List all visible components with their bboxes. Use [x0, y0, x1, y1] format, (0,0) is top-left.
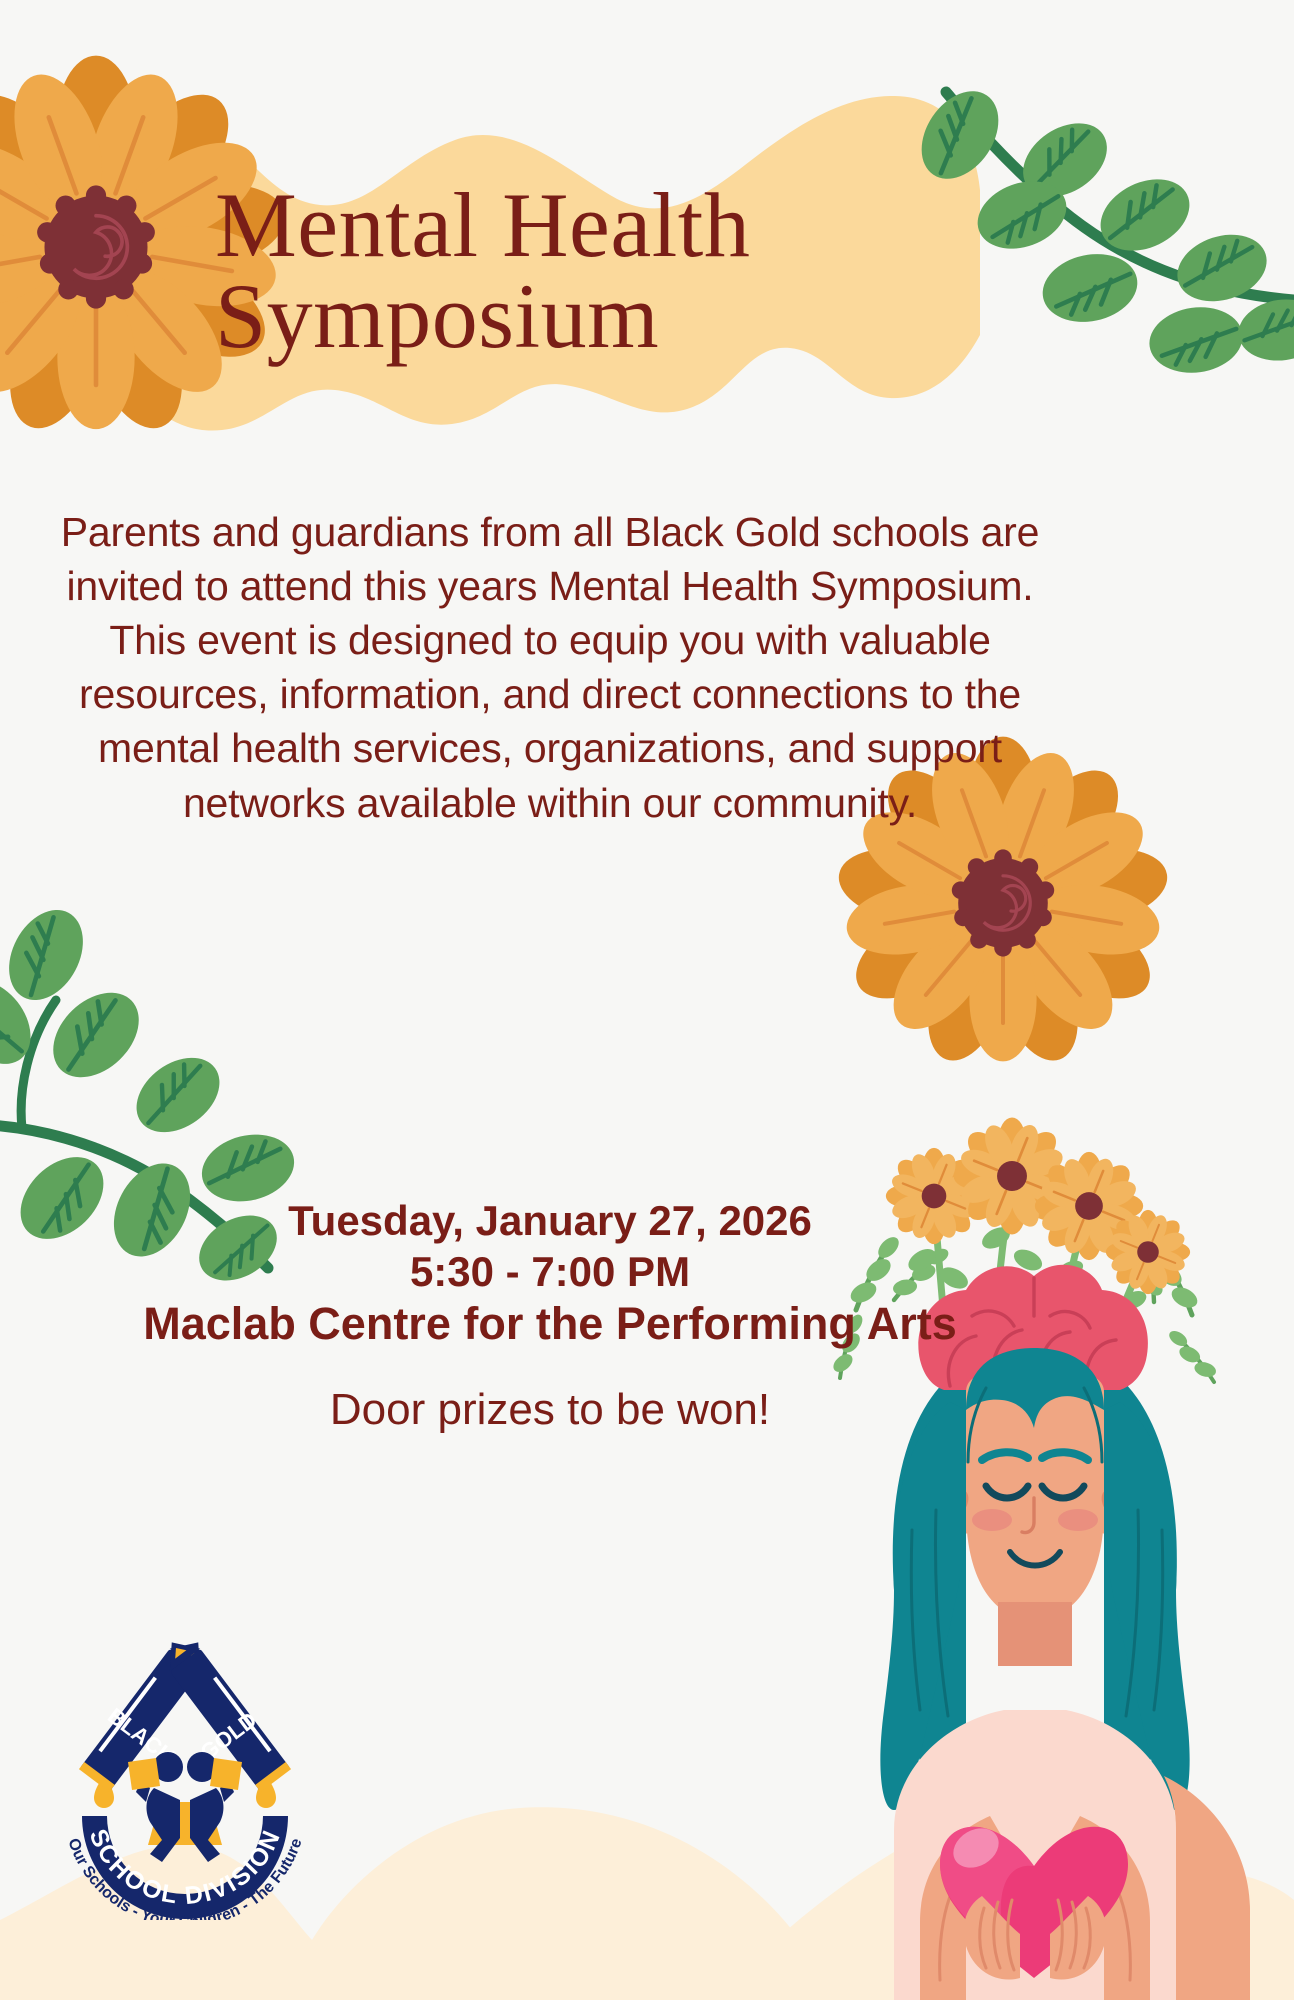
event-venue: Maclab Centre for the Performing Arts: [40, 1297, 1060, 1352]
title-line-2: Symposium: [215, 271, 1000, 362]
book-icon: [128, 1758, 242, 1790]
event-date: Tuesday, January 27, 2026: [40, 1195, 1060, 1246]
door-prizes-note: Door prizes to be won!: [40, 1385, 1060, 1435]
cheek-right: [1058, 1509, 1098, 1531]
neck: [998, 1602, 1072, 1666]
arm-right-far: [1164, 1776, 1250, 2000]
title-line-1: Mental Health: [215, 180, 1000, 271]
black-gold-school-division-logo: BLACK GOLD SCHOOL DIVISION: [50, 1630, 320, 1920]
event-details: Tuesday, January 27, 2026 5:30 - 7:00 PM…: [40, 1195, 1060, 1352]
cheek-left: [972, 1509, 1012, 1531]
body-paragraph: Parents and guardians from all Black Gol…: [50, 505, 1050, 830]
event-time: 5:30 - 7:00 PM: [40, 1246, 1060, 1297]
page-title: Mental Health Symposium: [0, 180, 1000, 362]
poster: Mental Health Symposium Parents and guar…: [0, 0, 1294, 2000]
